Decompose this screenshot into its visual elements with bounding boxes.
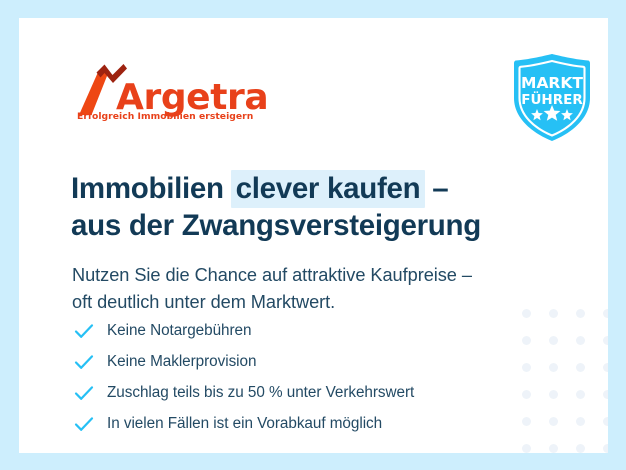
benefit-label: Zuschlag teils bis zu 50 % unter Verkehr… <box>107 384 414 402</box>
dot-grid-decoration <box>522 309 608 453</box>
dot <box>522 444 531 453</box>
headline-text-before: Immobilien <box>71 172 232 205</box>
dot <box>549 390 558 399</box>
list-item: Zuschlag teils bis zu 50 % unter Verkehr… <box>73 377 414 408</box>
list-item: In vielen Fällen ist ein Vorabkauf mögli… <box>73 408 414 439</box>
dot <box>576 309 585 318</box>
dot <box>549 363 558 372</box>
dot <box>522 363 531 372</box>
subheadline: Nutzen Sie die Chance auf attraktive Kau… <box>72 262 552 317</box>
dot <box>522 336 531 345</box>
benefit-label: Keine Maklerprovision <box>107 353 256 371</box>
dot <box>603 444 608 453</box>
dot <box>549 417 558 426</box>
headline-line-1: Immobilien clever kaufen – <box>71 170 541 207</box>
dot <box>603 417 608 426</box>
benefit-list: Keine Notargebühren Keine Maklerprovisio… <box>73 315 414 439</box>
benefit-label: In vielen Fällen ist ein Vorabkauf mögli… <box>107 415 382 433</box>
dot <box>576 444 585 453</box>
market-leader-badge: MARKT FÜHRER <box>508 52 596 144</box>
benefit-label: Keine Notargebühren <box>107 322 251 340</box>
dot <box>576 336 585 345</box>
check-icon <box>73 320 95 342</box>
check-icon <box>73 351 95 373</box>
headline: Immobilien clever kaufen – aus der Zwang… <box>71 170 541 244</box>
promo-banner: Argetra Erfolgreich Immobilien ersteiger… <box>0 0 626 470</box>
dot <box>549 444 558 453</box>
badge-line2: FÜHRER <box>521 90 583 108</box>
dot <box>549 336 558 345</box>
logo-tagline: Erfolgreich Immobilien ersteigern <box>77 111 253 122</box>
dot <box>603 336 608 345</box>
subheadline-line-2: oft deutlich unter dem Marktwert. <box>72 289 552 316</box>
dot <box>603 363 608 372</box>
dot <box>522 417 531 426</box>
subheadline-line-1: Nutzen Sie die Chance auf attraktive Kau… <box>72 262 552 289</box>
dot <box>576 390 585 399</box>
banner-card: Argetra Erfolgreich Immobilien ersteiger… <box>19 18 608 453</box>
dot <box>603 390 608 399</box>
list-item: Keine Notargebühren <box>73 315 414 346</box>
headline-text-after: – <box>424 172 448 205</box>
headline-highlight: clever kaufen <box>231 170 426 208</box>
dot <box>576 363 585 372</box>
badge-line1: MARKT <box>521 74 583 92</box>
dot <box>576 417 585 426</box>
headline-line-2: aus der Zwangsversteigerung <box>71 207 541 244</box>
dot <box>603 309 608 318</box>
check-icon <box>73 413 95 435</box>
dot <box>522 390 531 399</box>
list-item: Keine Maklerprovision <box>73 346 414 377</box>
argetra-logo[interactable]: Argetra Erfolgreich Immobilien ersteiger… <box>76 63 276 133</box>
check-icon <box>73 382 95 404</box>
